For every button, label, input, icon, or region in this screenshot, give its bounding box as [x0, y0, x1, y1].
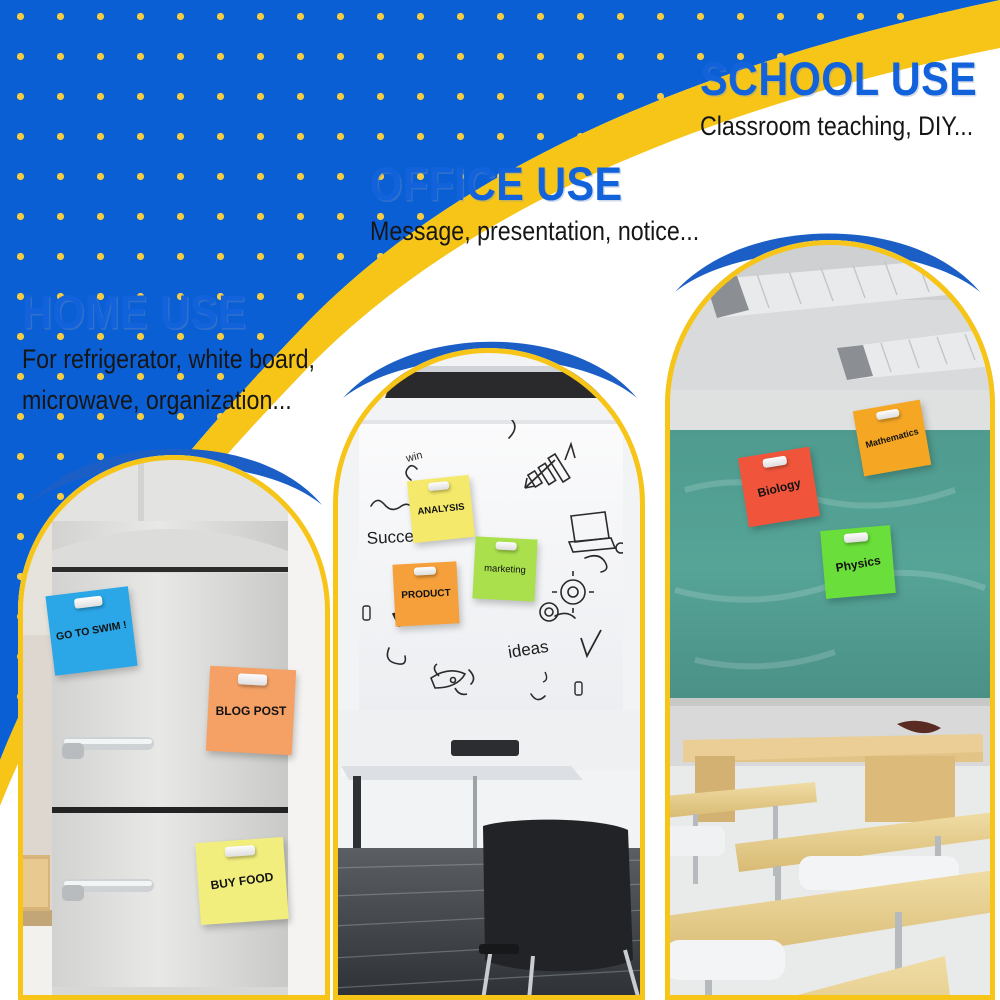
infographic-canvas: HOME USE For refrigerator, white board, …: [0, 0, 1000, 1000]
doodle-checkmark: [581, 630, 601, 656]
section-header-school: SCHOOL USE Classroom teaching, DIY...: [700, 55, 1000, 143]
magnet-clip-icon: [495, 542, 516, 551]
page-title-school: SCHOOL USE: [700, 55, 980, 102]
sticky-note-school-2[interactable]: Biology: [738, 447, 820, 527]
magnet-clip-icon: [844, 532, 868, 543]
doodle-word-ideas: ideas: [507, 637, 550, 662]
magnet-clip-icon: [225, 845, 256, 858]
page-title-office: OFFICE USE: [370, 160, 707, 207]
sticky-note-text: Mathematics: [858, 424, 926, 451]
doodle-laptop: [569, 512, 623, 553]
sticky-note-text: BLOG POST: [208, 704, 294, 718]
sticky-note-text: marketing: [474, 562, 536, 576]
doodle-rocket: [431, 664, 467, 694]
subtitle-office-line1: Message, presentation, notice...: [370, 215, 699, 248]
sticky-note-text: Physics: [822, 551, 893, 577]
magnet-clip-icon: [876, 408, 900, 420]
sticky-note-text: GO TO SWIM !: [50, 617, 134, 643]
section-header-home: HOME USE For refrigerator, white board, …: [22, 288, 363, 417]
magnet-clip-icon: [428, 481, 450, 491]
sticky-note-office-3[interactable]: marketing: [472, 536, 537, 601]
sticky-note-text: PRODUCT: [394, 587, 458, 601]
svg-text:win: win: [404, 449, 424, 465]
magnet-clip-icon: [238, 673, 268, 686]
magnet-clip-icon: [414, 567, 436, 576]
photo-panel-school: Mathematics Biology Physics: [665, 240, 995, 1000]
sticky-note-school-1[interactable]: Mathematics: [853, 400, 931, 477]
sticky-note-home-1[interactable]: GO TO SWIM !: [45, 586, 137, 676]
subtitle-school-line1: Classroom teaching, DIY...: [700, 110, 973, 143]
magnet-clip-icon: [73, 595, 102, 609]
section-header-office: OFFICE USE Message, presentation, notice…: [370, 160, 753, 248]
subtitle-home-line2: microwave, organization...: [22, 384, 315, 417]
ceiling-lamp: [385, 370, 601, 398]
page-title-home: HOME USE: [22, 288, 322, 335]
subtitle-home-line1: For refrigerator, white board,: [22, 343, 315, 376]
photo-panel-office: Success ideas win: [333, 348, 645, 1000]
sticky-note-office-2[interactable]: PRODUCT: [392, 561, 459, 626]
sticky-note-home-2[interactable]: BLOG POST: [206, 666, 296, 755]
sticky-note-office-1[interactable]: ANALYSIS: [407, 475, 475, 543]
sticky-note-text: Biology: [743, 473, 816, 504]
photo-classroom-chalkboard: [665, 240, 995, 1000]
sticky-note-text: ANALYSIS: [410, 501, 473, 518]
sticky-note-text: BUY FOOD: [197, 868, 286, 894]
magnet-clip-icon: [762, 455, 788, 468]
photo-panel-home: GO TO SWIM ! BLOG POST BUY FOOD: [18, 455, 330, 1000]
sticky-note-home-3[interactable]: BUY FOOD: [195, 837, 289, 925]
sticky-note-school-3[interactable]: Physics: [820, 525, 896, 599]
